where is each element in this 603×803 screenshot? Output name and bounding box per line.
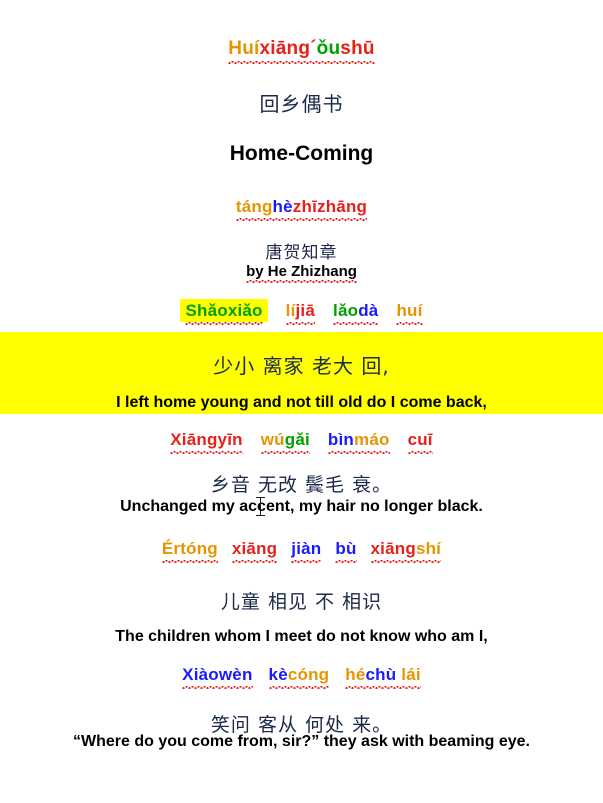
pinyin-syllable: cuī xyxy=(408,430,433,449)
pinyin-syllable: táng xyxy=(236,197,273,216)
word-gap xyxy=(329,665,345,685)
poem-document: Huíxiāng´ǒushū 回乡偶书 Home-Coming tánghèzh… xyxy=(0,0,603,803)
pinyin-segment: tánghèzhīzhāng xyxy=(236,197,367,221)
stanza-4-english: “Where do you come from, sir?” they ask … xyxy=(0,733,603,751)
hanzi-word: 相识 xyxy=(342,587,382,614)
pinyin-segment: héchù lái xyxy=(345,665,421,689)
title-pinyin: Huíxiāng´ǒushū xyxy=(0,38,603,64)
pinyin-word: xiāng xyxy=(232,539,277,558)
author-english-text: by He Zhizhang xyxy=(246,263,357,283)
pinyin-syllable: xiāng xyxy=(232,539,277,558)
word-gap xyxy=(390,430,408,450)
pinyin-segment: kècóng xyxy=(269,665,330,689)
hanzi-gap xyxy=(335,591,342,613)
stanza-3-english: The children whom I meet do not know who… xyxy=(0,628,603,646)
pinyin-syllable: Értóng xyxy=(162,539,218,558)
pinyin-segment: wúgǎi xyxy=(261,430,310,454)
author-pinyin: tánghèzhīzhāng xyxy=(0,197,603,221)
pinyin-word: kècóng xyxy=(269,665,330,684)
pinyin-syllable: xiāng xyxy=(371,539,416,558)
pinyin-syllable: máo xyxy=(354,430,390,449)
pinyin-word: Shǎoxiǎo xyxy=(180,299,267,322)
pinyin-syllable: chù xyxy=(366,665,397,684)
hanzi-word: 离家 xyxy=(263,350,305,379)
pinyin-word: lǎodà xyxy=(333,301,378,320)
hanzi-gap xyxy=(261,591,268,613)
pinyin-segment: Huíxiāng´ǒushū xyxy=(228,38,374,64)
hanzi-gap xyxy=(298,474,305,496)
pinyin-segment: Értóng xyxy=(162,539,218,563)
pinyin-syllable: kè xyxy=(269,665,288,684)
hanzi-gap xyxy=(251,474,258,496)
stanza-3-pinyin: Értóng xiāng jiàn bù xiāngshí xyxy=(0,539,603,563)
word-gap xyxy=(243,430,261,450)
stanza-1-hanzi: 少小 离家 老大 回, xyxy=(0,332,603,379)
stanza-2-pinyin: Xiāngyīn wúgǎi bìnmáo cuī xyxy=(0,430,603,454)
stanza-1-english: I left home young and not till old do I … xyxy=(0,379,603,412)
hanzi-gap xyxy=(308,591,315,613)
pinyin-word: Xiàowèn xyxy=(182,665,252,684)
title-hanzi: 回乡偶书 xyxy=(0,88,603,117)
hanzi-gap xyxy=(255,354,262,378)
pinyin-segment: xiāng xyxy=(232,539,277,563)
pinyin-segment: lǎodà xyxy=(333,301,378,325)
hanzi-word: 少小 xyxy=(213,350,255,379)
pinyin-syllable: shū xyxy=(340,38,374,59)
word-gap xyxy=(315,301,333,321)
pinyin-syllable: jiā xyxy=(296,301,316,320)
stanza-4-pinyin: Xiàowèn kècóng héchù lái xyxy=(0,665,603,689)
stanza-2-english: Unchanged my accent, my hair no longer b… xyxy=(0,498,603,516)
pinyin-word: héchù lái xyxy=(345,665,421,684)
pinyin-word: Xiāngyīn xyxy=(170,430,242,449)
pinyin-segment: bù xyxy=(335,539,356,563)
word-gap xyxy=(378,301,396,321)
pinyin-word: bìnmáo xyxy=(328,430,390,449)
pinyin-syllable: Xiàowèn xyxy=(182,665,252,684)
word-gap xyxy=(321,539,335,559)
pinyin-syllable: Huí xyxy=(228,38,259,59)
stanza-1-highlight-band: 少小 离家 老大 回, I left home young and not ti… xyxy=(0,332,603,414)
hanzi-word: 无改 xyxy=(258,470,298,497)
pinyin-syllable: hè xyxy=(273,197,293,216)
pinyin-segment: Shǎoxiǎo xyxy=(185,301,262,325)
pinyin-segment: Xiàowèn xyxy=(182,665,252,689)
pinyin-segment: cuī xyxy=(408,430,433,454)
title-english: Home-Coming xyxy=(0,142,603,166)
pinyin-syllable: shí xyxy=(416,539,441,558)
pinyin-syllable: gǎi xyxy=(285,430,310,449)
hanzi-word: 回, xyxy=(361,350,389,379)
pinyin-syllable: lái xyxy=(401,665,421,684)
hanzi-word: 相见 xyxy=(268,587,308,614)
word-gap xyxy=(310,430,328,450)
hanzi-word: 乡音 xyxy=(211,470,251,497)
pinyin-word: huí xyxy=(396,301,422,320)
pinyin-syllable: zhāng xyxy=(317,197,367,216)
pinyin-segment: xiāngshí xyxy=(371,539,442,563)
pinyin-word: wúgǎi xyxy=(261,430,310,449)
pinyin-syllable: cóng xyxy=(288,665,329,684)
hanzi-word: 不 xyxy=(315,587,335,614)
pinyin-word: Értóng xyxy=(162,539,218,558)
word-gap xyxy=(268,301,286,321)
author-english: by He Zhizhang xyxy=(0,263,603,283)
pinyin-syllable: bù xyxy=(335,539,356,558)
pinyin-word: bù xyxy=(335,539,356,558)
hanzi-word: 儿童 xyxy=(221,587,261,614)
pinyin-syllable: ǒu xyxy=(317,38,341,59)
pinyin-segment: bìnmáo xyxy=(328,430,390,454)
pinyin-syllable: wú xyxy=(261,430,285,449)
pinyin-syllable: huí xyxy=(396,301,422,320)
author-hanzi: 唐贺知章 xyxy=(0,238,603,263)
pinyin-syllable: bìn xyxy=(328,430,354,449)
pinyin-segment: Xiāngyīn xyxy=(170,430,242,454)
hanzi-gap xyxy=(345,474,352,496)
pinyin-syllable: hé xyxy=(345,665,365,684)
word-gap xyxy=(253,665,269,685)
pinyin-syllable: lǎo xyxy=(333,301,358,320)
stanza-2-hanzi: 乡音 无改 鬓毛 衰。 xyxy=(0,470,603,497)
stanza-1-pinyin: Shǎoxiǎo líjiā lǎodà huí xyxy=(0,301,603,325)
word-gap xyxy=(357,539,371,559)
pinyin-syllable: dà xyxy=(358,301,378,320)
hanzi-gap xyxy=(305,354,312,378)
pinyin-syllable: lí xyxy=(286,301,296,320)
hanzi-word: 鬓毛 xyxy=(305,470,345,497)
word-gap xyxy=(277,539,291,559)
hanzi-gap xyxy=(354,354,361,378)
pinyin-syllable: jiàn xyxy=(291,539,321,558)
pinyin-syllable: Xiāngyīn xyxy=(170,430,242,449)
hanzi-word: 老大 xyxy=(312,350,354,379)
pinyin-word: líjiā xyxy=(286,301,315,320)
pinyin-segment: jiàn xyxy=(291,539,321,563)
pinyin-word: cuī xyxy=(408,430,433,449)
pinyin-syllable: Shǎoxiǎo xyxy=(185,301,262,320)
pinyin-syllable: zhī xyxy=(293,197,317,216)
pinyin-word: xiāngshí xyxy=(371,539,442,558)
pinyin-syllable: xiāng xyxy=(260,38,311,59)
word-gap xyxy=(218,539,232,559)
pinyin-segment: huí xyxy=(396,301,422,325)
pinyin-word: jiàn xyxy=(291,539,321,558)
hanzi-word: 衰。 xyxy=(352,470,392,497)
pinyin-segment: líjiā xyxy=(286,301,315,325)
stanza-3-hanzi: 儿童 相见 不 相识 xyxy=(0,587,603,614)
